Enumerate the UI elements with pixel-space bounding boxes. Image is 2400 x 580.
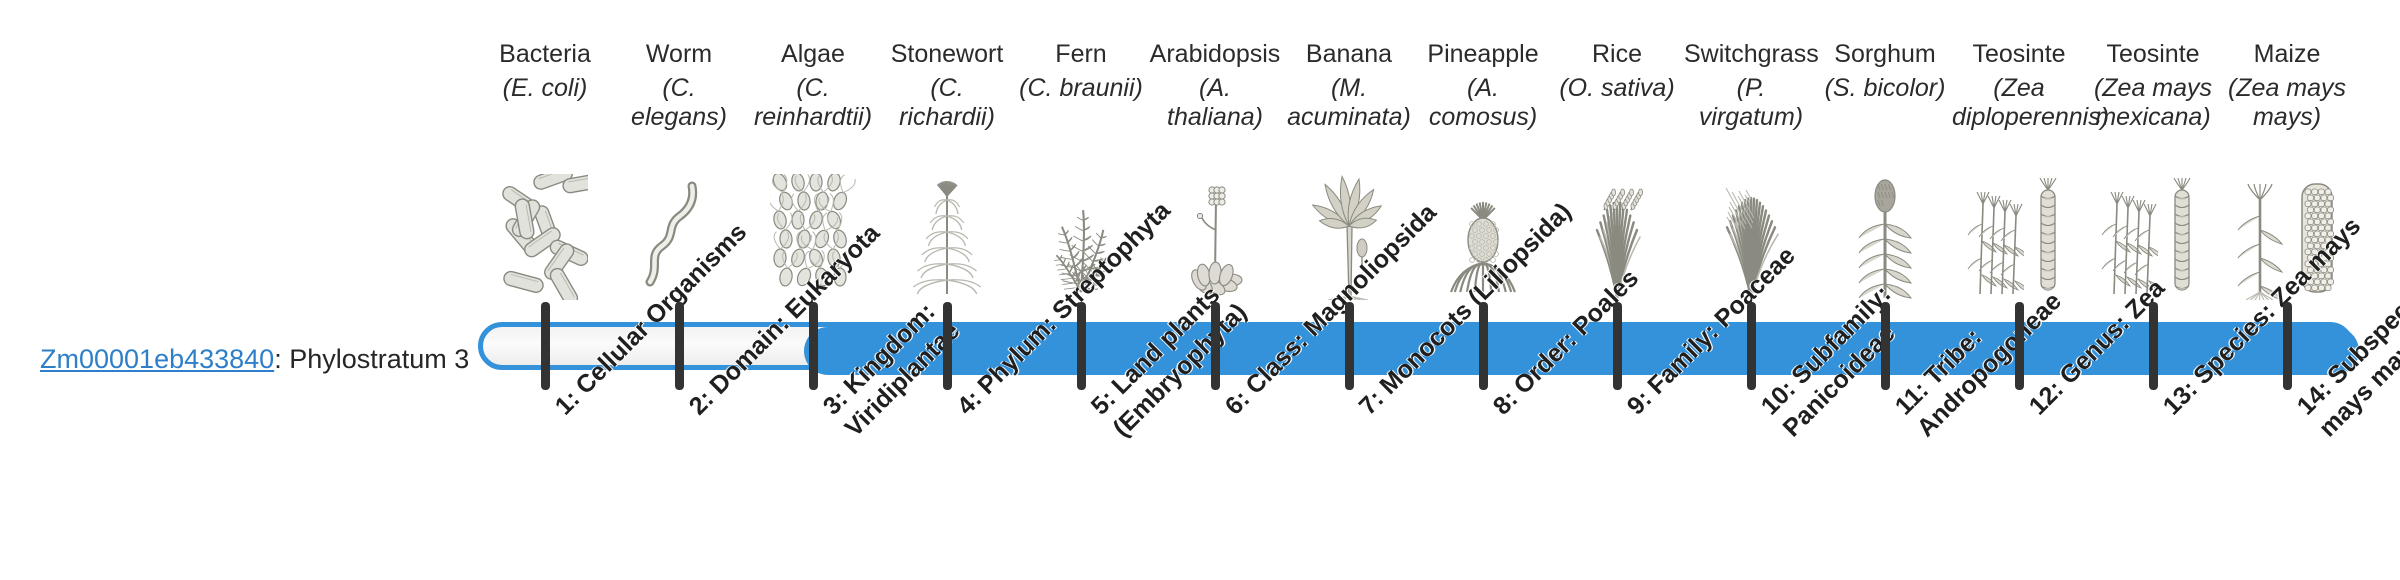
stonewort-whorl-icon bbox=[880, 152, 1014, 300]
species-scientific-name: (Zea mays mays) bbox=[2220, 74, 2354, 132]
species-scientific-name: (C. braunii) bbox=[1014, 74, 1148, 103]
arabidopsis-rosette-icon bbox=[1148, 152, 1282, 300]
species-scientific-name: (C. richardii) bbox=[880, 74, 1014, 132]
species-column: Banana(M. acuminata) bbox=[1282, 0, 1416, 300]
fern-frond-icon bbox=[1014, 152, 1148, 300]
species-scientific-name: (A. thaliana) bbox=[1148, 74, 1282, 132]
species-scientific-name: (Zea diploperennis) bbox=[1952, 74, 2086, 132]
species-column: Rice(O. sativa) bbox=[1550, 0, 1684, 300]
species-column: Teosinte(Zea diploperennis) bbox=[1952, 0, 2086, 300]
sorghum-stalk-icon bbox=[1818, 152, 1952, 300]
species-scientific-name: (E. coli) bbox=[478, 74, 612, 103]
species-common-name: Arabidopsis bbox=[1148, 40, 1282, 69]
species-column: Algae(C. reinhardtii) bbox=[746, 0, 880, 300]
species-common-name: Teosinte bbox=[1952, 40, 2086, 69]
species-column: Stonewort(C. richardii) bbox=[880, 0, 1014, 300]
switchgrass-clump-icon bbox=[1684, 152, 1818, 300]
gene-label-separator: : bbox=[274, 344, 289, 374]
green-algae-cells-icon bbox=[746, 152, 880, 300]
gene-phylostratum-label: Zm00001eb433840: Phylostratum 3 bbox=[40, 343, 460, 375]
rice-clump-icon bbox=[1550, 152, 1684, 300]
species-common-name: Bacteria bbox=[478, 40, 612, 69]
species-common-name: Fern bbox=[1014, 40, 1148, 69]
teosinte-plant-ear-icon bbox=[1952, 152, 2086, 300]
maize-plant-cob-icon bbox=[2220, 152, 2354, 300]
species-column: Worm(C. elegans) bbox=[612, 0, 746, 300]
species-common-name: Maize bbox=[2220, 40, 2354, 69]
species-scientific-name: (C. elegans) bbox=[612, 74, 746, 132]
species-common-name: Switchgrass bbox=[1684, 40, 1818, 69]
species-column: Switchgrass(P. virgatum) bbox=[1684, 0, 1818, 300]
nematode-worm-icon bbox=[612, 152, 746, 300]
species-common-name: Rice bbox=[1550, 40, 1684, 69]
species-scientific-name: (A. comosus) bbox=[1416, 74, 1550, 132]
species-scientific-name: (C. reinhardtii) bbox=[746, 74, 880, 132]
teosinte-plant-ear-icon bbox=[2086, 152, 2220, 300]
species-scientific-name: (S. bicolor) bbox=[1818, 74, 1952, 103]
pineapple-plant-icon bbox=[1416, 152, 1550, 300]
gene-id-link[interactable]: Zm00001eb433840 bbox=[40, 344, 274, 374]
species-common-name: Teosinte bbox=[2086, 40, 2220, 69]
species-common-name: Sorghum bbox=[1818, 40, 1952, 69]
phylostratum-figure: Zm00001eb433840: Phylostratum 3 Bacteria… bbox=[0, 0, 2400, 580]
species-column-container: Bacteria(E. coli)Worm(C. elegans)Algae(C… bbox=[478, 0, 2354, 580]
species-column: Maize(Zea mays mays) bbox=[2220, 0, 2354, 300]
banana-palm-icon bbox=[1282, 152, 1416, 300]
bacteria-rods-icon bbox=[478, 152, 612, 300]
species-column: Sorghum(S. bicolor) bbox=[1818, 0, 1952, 300]
species-scientific-name: (Zea mays mexicana) bbox=[2086, 74, 2220, 132]
species-column: Bacteria(E. coli) bbox=[478, 0, 612, 300]
species-common-name: Pineapple bbox=[1416, 40, 1550, 69]
species-column: Fern(C. braunii) bbox=[1014, 0, 1148, 300]
progress-fill bbox=[804, 327, 2359, 375]
species-common-name: Stonewort bbox=[880, 40, 1014, 69]
progress-track bbox=[478, 322, 2354, 370]
species-scientific-name: (O. sativa) bbox=[1550, 74, 1684, 103]
species-common-name: Algae bbox=[746, 40, 880, 69]
species-common-name: Banana bbox=[1282, 40, 1416, 69]
species-common-name: Worm bbox=[612, 40, 746, 69]
phylostratum-value: Phylostratum 3 bbox=[289, 344, 469, 374]
species-scientific-name: (P. virgatum) bbox=[1684, 74, 1818, 132]
species-column: Teosinte(Zea mays mexicana) bbox=[2086, 0, 2220, 300]
species-scientific-name: (M. acuminata) bbox=[1282, 74, 1416, 132]
species-column: Arabidopsis(A. thaliana) bbox=[1148, 0, 1282, 300]
species-column: Pineapple(A. comosus) bbox=[1416, 0, 1550, 300]
phylostratum-progress-bar[interactable] bbox=[478, 322, 2354, 370]
